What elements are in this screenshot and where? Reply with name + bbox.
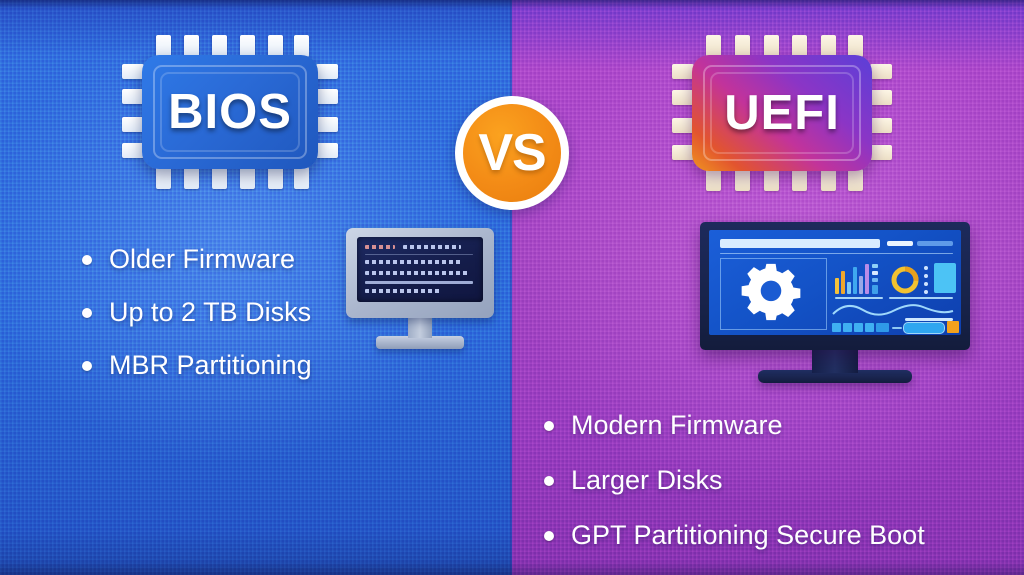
- chip-pin: [792, 35, 807, 57]
- chip-pin: [316, 64, 338, 79]
- panel-divider: [510, 0, 513, 575]
- chip-pin: [706, 169, 721, 191]
- chip-pin: [122, 143, 144, 158]
- uefi-dashboard-screen: [709, 230, 961, 335]
- chip-pin: [240, 35, 255, 57]
- donut-chart-icon: [889, 264, 921, 296]
- bios-setup-screen: [357, 237, 483, 302]
- chip-pin: [212, 35, 227, 57]
- chip-pin: [672, 118, 694, 133]
- bar-chart-legend-block: [872, 271, 878, 275]
- orange-tile: [947, 321, 959, 333]
- list-item: Up to 2 TB Disks: [82, 286, 312, 339]
- block-row-tile: [865, 323, 874, 332]
- settings-gear-icon: [727, 258, 815, 326]
- chip-pin: [156, 35, 171, 57]
- chip-pin: [156, 167, 171, 189]
- chip-pin: [870, 145, 892, 160]
- vs-badge-label: VS: [478, 123, 545, 183]
- top-vignette: [0, 0, 1024, 9]
- uefi-chip-graphic: UEFI: [692, 55, 872, 171]
- chip-pin: [184, 167, 199, 189]
- dashboard-top-chip: [917, 241, 953, 246]
- dashboard-divider: [720, 253, 953, 254]
- vs-badge-circle: VS: [463, 104, 561, 202]
- progress-connector: [892, 327, 902, 329]
- crt-monitor-neck: [408, 316, 432, 338]
- bullet-dot-icon: [82, 255, 92, 265]
- bios-screen-text-line: [403, 245, 461, 249]
- bullet-dot-icon: [544, 421, 554, 431]
- chip-pin: [240, 167, 255, 189]
- block-row-tile: [876, 323, 889, 332]
- vs-badge: VS: [455, 96, 569, 210]
- slide-canvas: BIOS UEFI VS: [0, 0, 1024, 575]
- bar-chart-legend-block: [872, 264, 878, 268]
- chip-pin: [792, 169, 807, 191]
- chip-pin: [672, 145, 694, 160]
- chip-pin: [764, 169, 779, 191]
- chip-pin: [316, 117, 338, 132]
- bullet-dot-icon: [544, 531, 554, 541]
- dashboard-top-chip: [887, 241, 913, 246]
- monitor-neck: [812, 348, 858, 373]
- chip-pin: [268, 167, 283, 189]
- chip-pin: [706, 35, 721, 57]
- list-item-label: Modern Firmware: [571, 410, 783, 441]
- bottom-vignette: [0, 561, 1024, 575]
- chip-pin: [122, 64, 144, 79]
- bar-chart-legend-block: [872, 285, 878, 294]
- donut-legend-dot: [924, 266, 928, 270]
- list-item: Larger Disks: [544, 453, 925, 508]
- chip-pin: [672, 64, 694, 79]
- dashboard-title-bar: [720, 239, 880, 248]
- bar-chart-bar: [859, 276, 863, 294]
- image-tile: [934, 263, 956, 293]
- chip-pin: [316, 89, 338, 104]
- chip-pin: [870, 90, 892, 105]
- uefi-chip-label: UEFI: [692, 55, 872, 171]
- bullet-dot-icon: [82, 361, 92, 371]
- list-item: Modern Firmware: [544, 398, 925, 453]
- progress-bar: [903, 322, 945, 334]
- chip-pin: [821, 35, 836, 57]
- crt-monitor-graphic: [346, 228, 494, 354]
- bar-chart-bar: [847, 282, 851, 294]
- block-row-tile: [843, 323, 852, 332]
- bios-screen-text-line: [365, 289, 441, 293]
- bar-chart-legend-block: [872, 278, 878, 282]
- list-item: GPT Partitioning Secure Boot: [544, 508, 925, 563]
- bios-screen-rule: [365, 254, 473, 255]
- chip-pin: [268, 35, 283, 57]
- bios-screen-rule: [365, 281, 473, 284]
- list-item: MBR Partitioning: [82, 339, 312, 392]
- uefi-monitor-graphic: [700, 222, 970, 387]
- chip-pin: [294, 167, 309, 189]
- chip-pin: [122, 89, 144, 104]
- chip-pin: [735, 169, 750, 191]
- list-item-label: GPT Partitioning Secure Boot: [571, 520, 925, 551]
- bar-chart-bar: [865, 264, 869, 294]
- bar-chart-bar: [853, 267, 857, 294]
- monitor-bezel: [700, 222, 970, 350]
- bios-screen-text-line: [365, 271, 469, 275]
- chip-pin: [821, 169, 836, 191]
- bios-feature-list: Older Firmware Up to 2 TB Disks MBR Part…: [82, 233, 312, 392]
- chip-pin: [735, 35, 750, 57]
- list-item-label: MBR Partitioning: [109, 350, 312, 381]
- block-row-tile: [854, 323, 863, 332]
- chip-pin: [294, 35, 309, 57]
- chip-pin: [764, 35, 779, 57]
- bar-chart-baseline: [835, 297, 883, 299]
- list-item-label: Larger Disks: [571, 465, 723, 496]
- chip-pin: [870, 118, 892, 133]
- dashboard-divider: [889, 297, 953, 299]
- list-item: Older Firmware: [82, 233, 312, 286]
- donut-legend-dot: [924, 274, 928, 278]
- chip-pin: [122, 117, 144, 132]
- chip-pin: [848, 35, 863, 57]
- donut-legend-dot: [924, 290, 928, 294]
- uefi-feature-list: Modern Firmware Larger Disks GPT Partiti…: [544, 398, 925, 563]
- donut-legend-dot: [924, 282, 928, 286]
- chip-pin: [212, 167, 227, 189]
- bios-screen-text-line: [365, 260, 461, 264]
- chip-pin: [184, 35, 199, 57]
- bullet-dot-icon: [544, 476, 554, 486]
- chip-pin: [672, 90, 694, 105]
- chip-pin: [848, 169, 863, 191]
- bios-chip-label: BIOS: [142, 55, 318, 169]
- bios-chip-graphic: BIOS: [142, 55, 318, 169]
- list-item-label: Older Firmware: [109, 244, 295, 275]
- bullet-dot-icon: [82, 308, 92, 318]
- bios-screen-text-line: [365, 245, 395, 249]
- list-item-label: Up to 2 TB Disks: [109, 297, 311, 328]
- chip-pin: [870, 64, 892, 79]
- block-row-tile: [832, 323, 841, 332]
- crt-monitor-case: [346, 228, 494, 318]
- bar-chart-bar: [841, 271, 845, 294]
- line-graph-icon: [831, 301, 955, 319]
- line-graph-label-bar: [905, 318, 953, 321]
- bar-chart-bar: [835, 278, 839, 294]
- chip-pin: [316, 143, 338, 158]
